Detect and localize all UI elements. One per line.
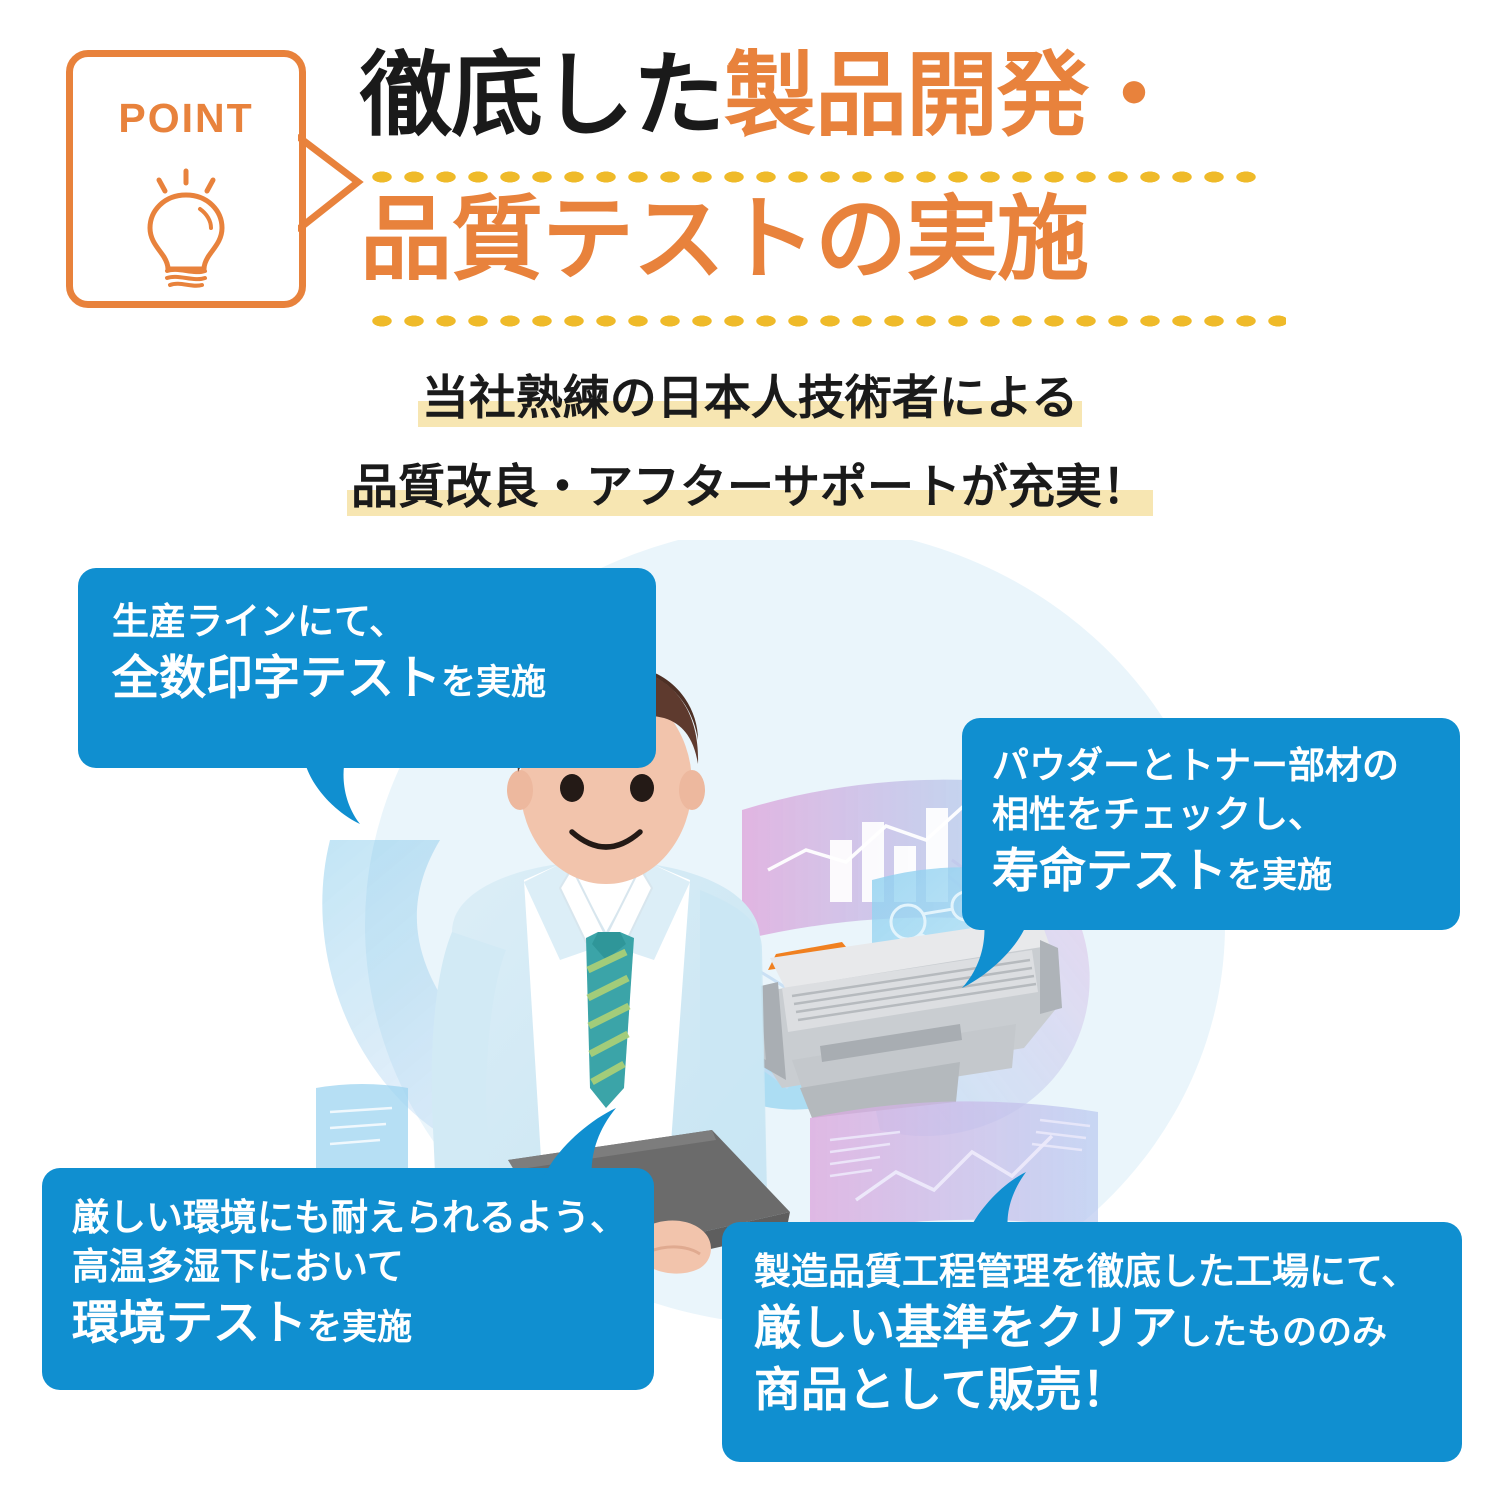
bubble-factory-standards-tail-icon: [958, 1168, 1054, 1234]
bubble-life-test-line-3: 寿命テストを実施: [992, 840, 1430, 902]
bubble-environment-test: 厳しい環境にも耐えられるよう、 高温多湿下において 環境テストを実施: [42, 1168, 654, 1390]
bubble-environment-test-tail: を実施: [307, 1308, 412, 1347]
subtitle-line-1-text: 当社熟練の日本人技術者による: [422, 371, 1079, 424]
bubble-factory-standards-line-1: 製造品質工程管理を徹底した工場にて、: [754, 1248, 1432, 1297]
bubble-factory-standards-strong: 厳しい基準をクリア: [754, 1301, 1177, 1354]
headline-line-2: 品質テストの実施: [360, 192, 1460, 304]
headline-line-2-text: 品質テストの実施: [360, 189, 1088, 291]
bubble-life-test-strong: 寿命テスト: [992, 844, 1227, 897]
bubble-life-test-tail-icon: [924, 918, 1034, 998]
bubble-print-test-line-1: 生産ラインにて、: [112, 598, 622, 647]
line-chart-panel: [810, 1101, 1098, 1238]
subtitle-line-2-text: 品質改良・アフターサポートが充実！: [351, 460, 1149, 513]
bubble-print-test-tail: を実施: [441, 663, 546, 702]
bubble-environment-test-line-1: 厳しい環境にも耐えられるよう、: [72, 1194, 624, 1243]
bubble-print-test-tail-icon: [300, 764, 390, 834]
bubble-environment-test-strong: 環境テスト: [72, 1296, 307, 1349]
headline-orange-part: 製品開発・: [724, 45, 1179, 147]
bubble-factory-standards-line-3: 商品として販売！: [754, 1359, 1432, 1421]
dotted-underline-2: [366, 312, 1286, 330]
bubble-factory-standards-line-2: 厳しい基準をクリアしたもののみ: [754, 1297, 1432, 1359]
subtitle-line-1-wrap: 当社熟練の日本人技術者による: [0, 368, 1500, 431]
bubble-environment-test-text: 厳しい環境にも耐えられるよう、 高温多湿下において 環境テストを実施: [42, 1168, 654, 1376]
bubble-print-test-text: 生産ラインにて、 全数印字テストを実施: [78, 568, 656, 735]
lightbulb-icon: [126, 165, 246, 296]
headline-black-part: 徹底した: [360, 45, 724, 147]
left-accent-panel: [316, 1084, 408, 1180]
bubble-life-test: パウダーとトナー部材の 相性をチェックし、 寿命テストを実施: [962, 718, 1460, 930]
subtitle: 当社熟練の日本人技術者による 品質改良・アフターサポートが充実！: [0, 368, 1500, 520]
subtitle-line-1: 当社熟練の日本人技術者による: [418, 368, 1083, 431]
bubble-life-test-tail: を実施: [1227, 856, 1332, 895]
bubble-factory-standards: 製造品質工程管理を徹底した工場にて、 厳しい基準をクリアしたもののみ 商品として…: [722, 1222, 1462, 1462]
badge-arrow-icon: [298, 134, 368, 232]
point-badge: POINT: [66, 50, 306, 308]
bubble-life-test-line-1: パウダーとトナー部材の: [992, 742, 1430, 791]
subtitle-line-2-wrap: 品質改良・アフターサポートが充実！: [0, 457, 1500, 520]
bubble-factory-standards-text: 製造品質工程管理を徹底した工場にて、 厳しい基準をクリアしたもののみ 商品として…: [722, 1222, 1462, 1443]
bubble-print-test: 生産ラインにて、 全数印字テストを実施: [78, 568, 656, 768]
dotted-underline-1: [366, 168, 1256, 186]
subtitle-line-2: 品質改良・アフターサポートが充実！: [347, 457, 1153, 520]
bubble-print-test-strong: 全数印字テスト: [112, 651, 441, 704]
point-badge-label: POINT: [73, 95, 299, 142]
bubble-life-test-line-2: 相性をチェックし、: [992, 791, 1430, 840]
headline-line-1: 徹底した製品開発・: [360, 48, 1460, 160]
bubble-print-test-line-2: 全数印字テストを実施: [112, 647, 622, 709]
bubble-environment-test-tail-icon: [534, 1102, 644, 1182]
bubble-environment-test-line-2: 高温多湿下において: [72, 1243, 624, 1292]
bubble-life-test-text: パウダーとトナー部材の 相性をチェックし、 寿命テストを実施: [962, 718, 1460, 922]
bubble-environment-test-line-3: 環境テストを実施: [72, 1292, 624, 1354]
bubble-factory-standards-tail: したもののみ: [1177, 1313, 1387, 1352]
